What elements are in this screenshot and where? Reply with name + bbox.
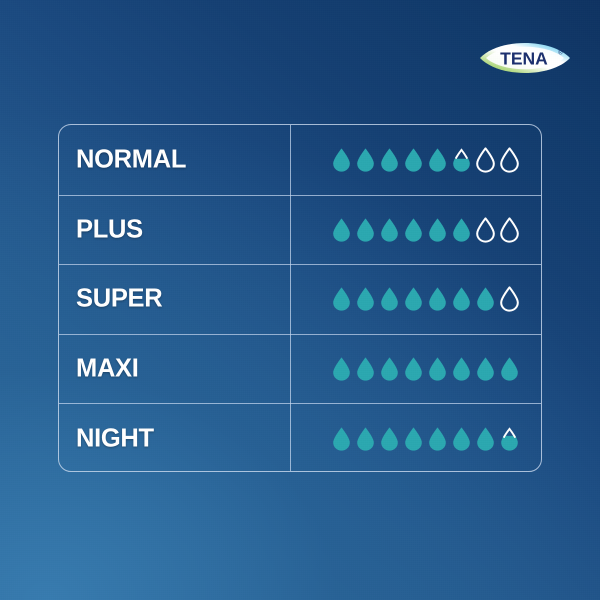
droplet-filled-icon: [331, 425, 352, 453]
droplet-empty-icon: [475, 216, 496, 244]
row-label-super: SUPER: [76, 287, 162, 313]
droplet-filled-icon: [451, 355, 472, 383]
droplet-filled-icon: [427, 216, 448, 244]
tena-logo-trademark: ®: [558, 50, 563, 57]
absorbency-chart-canvas: TENA ® NORMAL PLUS SUPER MAXI NIGHT: [0, 0, 600, 600]
drop-rating-plus: [331, 216, 520, 244]
droplet-filled-icon: [475, 355, 496, 383]
row-label-normal: NORMAL: [76, 147, 186, 173]
droplet-filled-icon: [403, 216, 424, 244]
droplet-filled-icon: [355, 146, 376, 174]
droplet-filled-icon: [475, 285, 496, 313]
absorbency-table: NORMAL PLUS SUPER MAXI NIGHT: [58, 124, 542, 472]
droplet-filled-icon: [379, 355, 400, 383]
droplet-filled-icon: [379, 285, 400, 313]
table-row: NORMAL: [59, 125, 541, 195]
drop-rating-maxi: [331, 355, 520, 383]
droplet-filled-icon: [331, 285, 352, 313]
table-row: SUPER: [59, 264, 541, 334]
row-label-night: NIGHT: [76, 426, 154, 452]
droplet-filled-icon: [355, 216, 376, 244]
tena-logo-text: TENA: [500, 49, 548, 69]
row-label-maxi: MAXI: [76, 356, 139, 382]
droplet-filled-icon: [403, 285, 424, 313]
droplet-filled-icon: [451, 425, 472, 453]
droplet-filled-icon: [403, 425, 424, 453]
droplet-filled-icon: [355, 425, 376, 453]
droplet-filled-icon: [427, 355, 448, 383]
row-label-plus: PLUS: [76, 217, 143, 243]
droplet-filled-icon: [379, 425, 400, 453]
droplet-empty-icon: [475, 146, 496, 174]
droplet-filled-icon: [403, 355, 424, 383]
droplet-empty-icon: [499, 285, 520, 313]
droplet-filled-icon: [331, 355, 352, 383]
droplet-filled-icon: [379, 216, 400, 244]
table-row: MAXI: [59, 334, 541, 404]
droplet-filled-icon: [451, 285, 472, 313]
table-row: PLUS: [59, 195, 541, 265]
table-row: NIGHT: [59, 403, 541, 473]
droplet-filled-icon: [331, 146, 352, 174]
droplet-filled-icon: [499, 355, 520, 383]
droplet-filled-icon: [427, 146, 448, 174]
droplet-filled-icon: [403, 146, 424, 174]
droplet-empty-icon: [499, 216, 520, 244]
drop-rating-normal: [331, 146, 520, 174]
droplet-filled-icon: [475, 425, 496, 453]
droplet-empty-icon: [499, 146, 520, 174]
drop-rating-night: [331, 425, 520, 453]
droplet-filled-icon: [427, 285, 448, 313]
droplet-filled-icon: [379, 146, 400, 174]
tena-logo: TENA ®: [479, 36, 571, 80]
droplet-partial-icon: [451, 146, 472, 174]
droplet-filled-icon: [427, 425, 448, 453]
droplet-filled-icon: [355, 285, 376, 313]
droplet-partial-icon: [499, 425, 520, 453]
droplet-filled-icon: [451, 216, 472, 244]
droplet-filled-icon: [355, 355, 376, 383]
droplet-filled-icon: [331, 216, 352, 244]
drop-rating-super: [331, 285, 520, 313]
